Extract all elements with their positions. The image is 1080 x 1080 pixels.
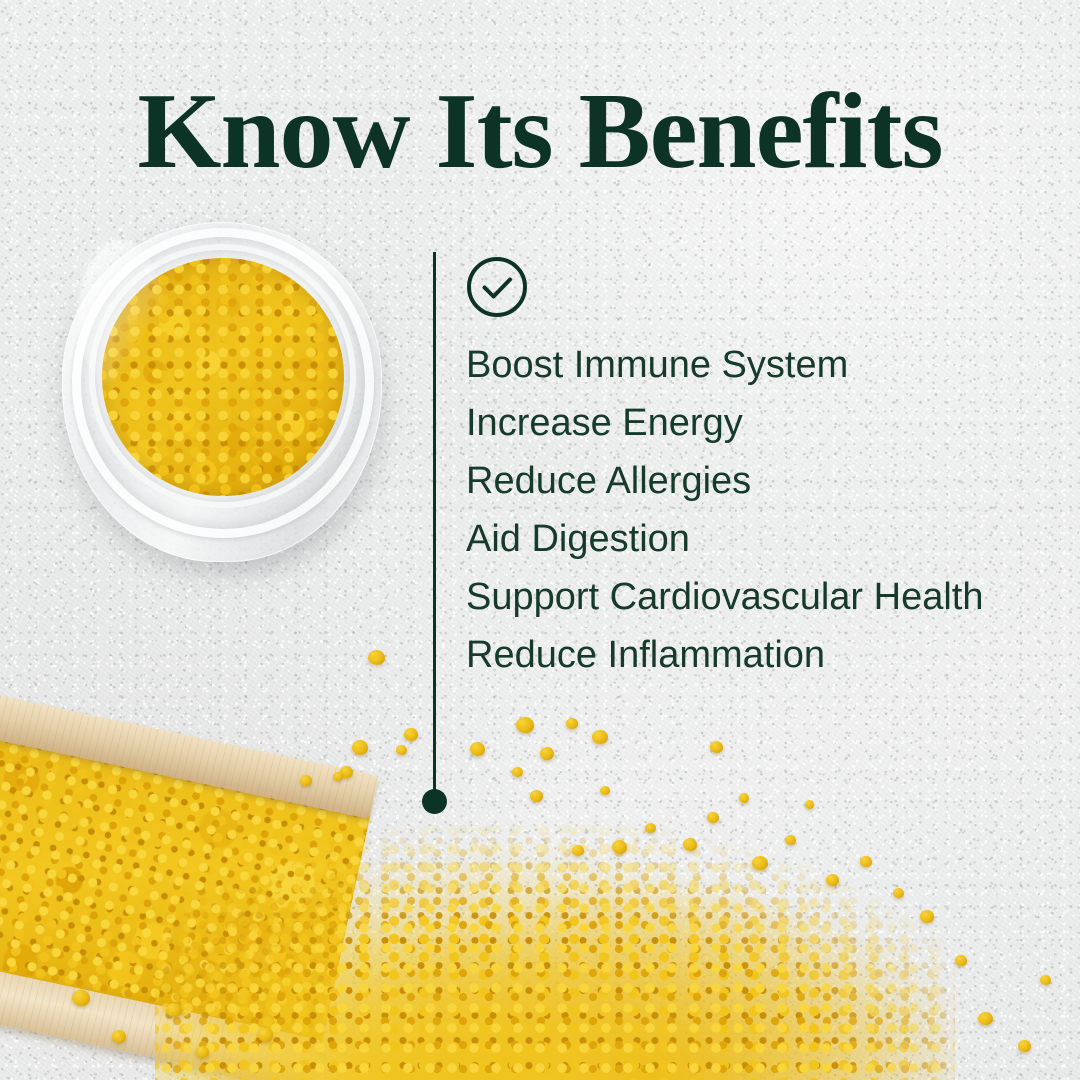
pollen-grain <box>300 775 312 786</box>
pollen-grain <box>860 856 872 867</box>
pollen-grain <box>920 910 934 923</box>
pollen-grain <box>612 840 627 854</box>
pollen-grain <box>112 1030 126 1043</box>
list-item: Reduce Inflammation <box>466 626 984 684</box>
pollen-grain <box>333 772 343 781</box>
pollen-grain <box>258 1028 273 1042</box>
pollen-grain <box>572 845 584 856</box>
pollen-grain <box>368 650 385 665</box>
pollen-grain <box>826 874 839 886</box>
jar-glass-highlight <box>78 240 164 390</box>
pollen-grain <box>955 955 967 966</box>
pollen-grain <box>785 835 796 845</box>
pollen-grain <box>1040 975 1051 985</box>
vertical-accent-line <box>433 252 436 800</box>
pollen-grain <box>893 888 904 898</box>
list-item: Increase Energy <box>466 394 984 452</box>
pollen-grain <box>645 823 656 833</box>
poster-canvas: Know Its Benefits Boost Immune System In… <box>0 0 1080 1080</box>
list-item: Aid Digestion <box>466 510 984 568</box>
pollen-grain <box>166 1003 182 1017</box>
list-item: Support Cardiovascular Health <box>466 568 984 626</box>
list-item: Boost Immune System <box>466 336 984 394</box>
page-title: Know Its Benefits <box>0 78 1080 186</box>
benefits-block: Boost Immune System Increase Energy Redu… <box>433 252 1033 812</box>
check-circle-icon <box>466 256 528 318</box>
pollen-grain <box>683 838 697 851</box>
pollen-grain <box>707 812 719 823</box>
glass-jar-image <box>62 222 382 562</box>
pollen-grain <box>396 745 407 755</box>
pollen-grain <box>196 1046 209 1058</box>
pollen-grain <box>752 856 768 870</box>
pollen-grain <box>72 990 90 1006</box>
vertical-line-end-dot <box>422 789 447 814</box>
pollen-grain <box>404 728 418 741</box>
list-item: Reduce Allergies <box>466 452 984 510</box>
benefits-list: Boost Immune System Increase Energy Redu… <box>466 336 984 684</box>
pollen-grain <box>978 1012 993 1025</box>
pollen-grain <box>1018 1040 1031 1052</box>
pollen-grain <box>352 740 368 755</box>
